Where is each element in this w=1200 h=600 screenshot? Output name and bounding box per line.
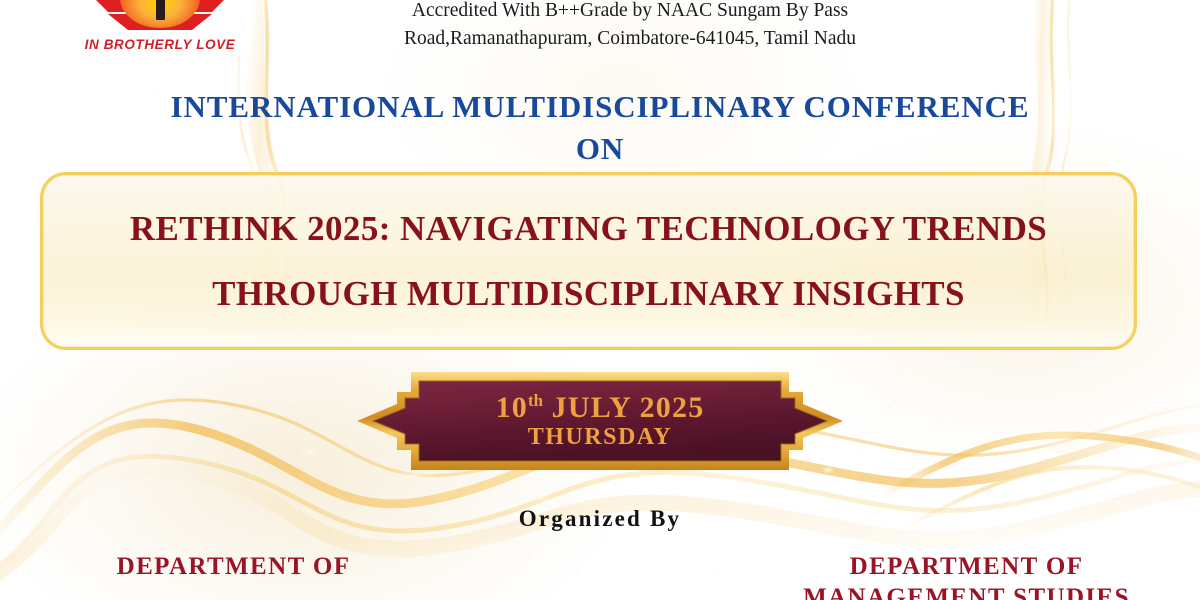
institution-logo: IN BROTHERLY LOVE: [68, 0, 252, 56]
address-line-1: Accredited With B++Grade by NAAC Sungam …: [330, 0, 930, 25]
date-banner: 10th JULY 2025 THURSDAY: [351, 366, 849, 476]
conference-title-line-2: ON: [0, 128, 1200, 170]
conference-title: INTERNATIONAL MULTIDISCIPLINARY CONFEREN…: [0, 86, 1200, 169]
organized-by-heading: Organized By: [0, 506, 1200, 532]
department-right-line-2: MANAGEMENT STUDIES: [733, 583, 1200, 600]
logo-caption: IN BROTHERLY LOVE: [68, 37, 252, 52]
conference-poster: IN BROTHERLY LOVE Accredited With B++Gra…: [0, 0, 1200, 600]
department-right: DEPARTMENT OF MANAGEMENT STUDIES: [657, 552, 1200, 600]
department-right-line-1: DEPARTMENT OF: [733, 552, 1200, 583]
date-banner-shape: [351, 366, 849, 476]
poster-header: IN BROTHERLY LOVE Accredited With B++Gra…: [0, 0, 1200, 84]
department-left-line-1: DEPARTMENT OF: [0, 552, 467, 583]
address-line-2: Road,Ramanathapuram, Coimbatore-641045, …: [330, 25, 930, 53]
theme-line-1: RETHINK 2025: NAVIGATING TECHNOLOGY TREN…: [130, 211, 1047, 246]
organizing-departments: DEPARTMENT OF DEPARTMENT OF MANAGEMENT S…: [0, 552, 1200, 600]
conference-title-line-1: INTERNATIONAL MULTIDISCIPLINARY CONFEREN…: [0, 86, 1200, 128]
department-left: DEPARTMENT OF: [0, 552, 657, 600]
conference-theme-box: RETHINK 2025: NAVIGATING TECHNOLOGY TREN…: [40, 172, 1137, 350]
institution-address: Accredited With B++Grade by NAAC Sungam …: [330, 0, 930, 52]
theme-line-2: THROUGH MULTIDISCIPLINARY INSIGHTS: [212, 276, 965, 311]
